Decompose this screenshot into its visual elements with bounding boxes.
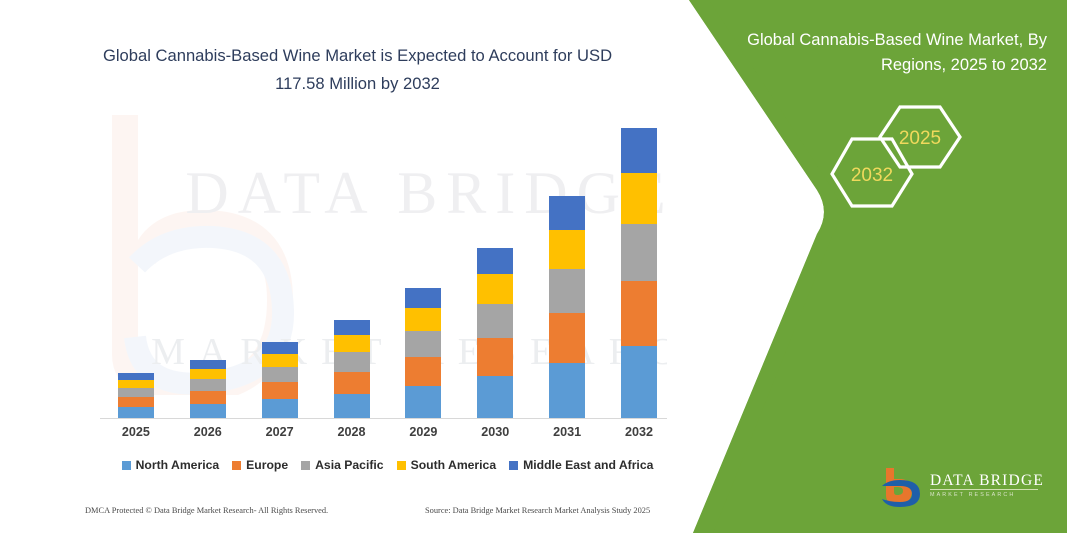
- bar-segment-middle-east-and-africa: [405, 288, 441, 308]
- legend-swatch-icon: [122, 461, 131, 470]
- bar-segment-europe: [477, 338, 513, 376]
- bar-segment-europe: [190, 391, 226, 404]
- footer-copyright: DMCA Protected © Data Bridge Market Rese…: [85, 506, 328, 515]
- bar-segment-north-america: [621, 346, 657, 418]
- hexagon-badges: 2025 2032: [824, 103, 984, 208]
- bar-segment-middle-east-and-africa: [118, 373, 154, 380]
- legend-label: South America: [411, 458, 497, 472]
- bar-segment-north-america: [190, 404, 226, 418]
- bar-segment-south-america: [334, 335, 370, 352]
- bar-segment-middle-east-and-africa: [190, 360, 226, 369]
- bar-segment-south-america: [118, 380, 154, 388]
- bar-segment-north-america: [118, 407, 154, 418]
- legend-label: Asia Pacific: [315, 458, 383, 472]
- bar-segment-europe: [334, 372, 370, 394]
- bar-segment-south-america: [477, 274, 513, 304]
- x-label-2031: 2031: [531, 425, 603, 439]
- infographic-canvas: DATA BRIDGE MARKET RESEARCH Global Canna…: [0, 0, 1067, 533]
- logo-divider: [930, 489, 1038, 490]
- bar-2027[interactable]: [262, 342, 298, 418]
- x-label-2030: 2030: [459, 425, 531, 439]
- bar-2029[interactable]: [405, 288, 441, 418]
- legend-item-asia-pacific[interactable]: Asia Pacific: [301, 458, 383, 472]
- bar-segment-south-america: [190, 369, 226, 379]
- bar-segment-europe: [405, 357, 441, 386]
- legend-swatch-icon: [232, 461, 241, 470]
- legend-label: Europe: [246, 458, 288, 472]
- bar-segment-asia-pacific: [334, 352, 370, 372]
- bar-segment-asia-pacific: [621, 224, 657, 281]
- bar-segment-north-america: [477, 376, 513, 418]
- bar-segment-south-america: [621, 173, 657, 224]
- footer-source: Source: Data Bridge Market Research Mark…: [425, 506, 650, 515]
- bar-chart-plot: [100, 110, 675, 418]
- logo-subtitle: MARKET RESEARCH: [930, 492, 1015, 498]
- legend-item-north-america[interactable]: North America: [122, 458, 220, 472]
- x-label-2032: 2032: [603, 425, 675, 439]
- bar-segment-asia-pacific: [477, 304, 513, 338]
- page-title: Global Cannabis-Based Wine Market is Exp…: [85, 42, 630, 98]
- legend-item-south-america[interactable]: South America: [397, 458, 497, 472]
- x-label-2026: 2026: [172, 425, 244, 439]
- bar-segment-europe: [262, 382, 298, 399]
- right-green-panel: Global Cannabis-Based Wine Market, By Re…: [667, 0, 1067, 533]
- legend-label: Middle East and Africa: [523, 458, 653, 472]
- bar-segment-south-america: [405, 308, 441, 331]
- x-axis-labels: 20252026202720282029203020312032: [100, 425, 675, 447]
- bar-2031[interactable]: [549, 196, 585, 418]
- bar-segment-middle-east-and-africa: [262, 342, 298, 354]
- bar-segment-middle-east-and-africa: [334, 320, 370, 335]
- bar-segment-asia-pacific: [549, 269, 585, 313]
- bar-segment-europe: [621, 281, 657, 346]
- bar-segment-middle-east-and-africa: [621, 128, 657, 173]
- bar-2028[interactable]: [334, 320, 370, 418]
- bar-segment-asia-pacific: [405, 331, 441, 357]
- chart-legend: North AmericaEuropeAsia PacificSouth Ame…: [100, 455, 675, 475]
- legend-swatch-icon: [301, 461, 310, 470]
- legend-swatch-icon: [397, 461, 406, 470]
- legend-label: North America: [136, 458, 220, 472]
- bar-2032[interactable]: [621, 128, 657, 418]
- legend-item-europe[interactable]: Europe: [232, 458, 288, 472]
- bar-2030[interactable]: [477, 248, 513, 418]
- green-panel-shape: [667, 0, 1067, 533]
- bar-segment-south-america: [549, 230, 585, 269]
- bar-segment-asia-pacific: [118, 388, 154, 397]
- hexagon-2032-label: 2032: [851, 165, 893, 186]
- bar-segment-north-america: [334, 394, 370, 418]
- bar-segment-europe: [549, 313, 585, 363]
- x-label-2025: 2025: [100, 425, 172, 439]
- bar-segment-asia-pacific: [262, 367, 298, 382]
- x-label-2027: 2027: [244, 425, 316, 439]
- bar-segment-asia-pacific: [190, 379, 226, 391]
- x-label-2028: 2028: [316, 425, 388, 439]
- bar-segment-north-america: [549, 363, 585, 418]
- legend-swatch-icon: [509, 461, 518, 470]
- footer: DMCA Protected © Data Bridge Market Rese…: [0, 506, 700, 526]
- data-bridge-logo: DATA BRIDGE MARKET RESEARCH: [878, 466, 1043, 512]
- bar-segment-north-america: [405, 386, 441, 418]
- bar-segment-south-america: [262, 354, 298, 367]
- x-label-2029: 2029: [387, 425, 459, 439]
- bar-2026[interactable]: [190, 360, 226, 418]
- panel-title: Global Cannabis-Based Wine Market, By Re…: [727, 28, 1047, 78]
- legend-item-middle-east-and-africa[interactable]: Middle East and Africa: [509, 458, 653, 472]
- bar-segment-europe: [118, 397, 154, 407]
- bar-segment-north-america: [262, 399, 298, 418]
- data-bridge-b-icon: [878, 466, 926, 510]
- x-axis-line: [100, 418, 675, 419]
- bar-segment-middle-east-and-africa: [549, 196, 585, 230]
- bar-2025[interactable]: [118, 373, 154, 418]
- logo-name: DATA BRIDGE: [930, 472, 1044, 490]
- bar-segment-middle-east-and-africa: [477, 248, 513, 274]
- hexagon-2025-label: 2025: [899, 128, 941, 149]
